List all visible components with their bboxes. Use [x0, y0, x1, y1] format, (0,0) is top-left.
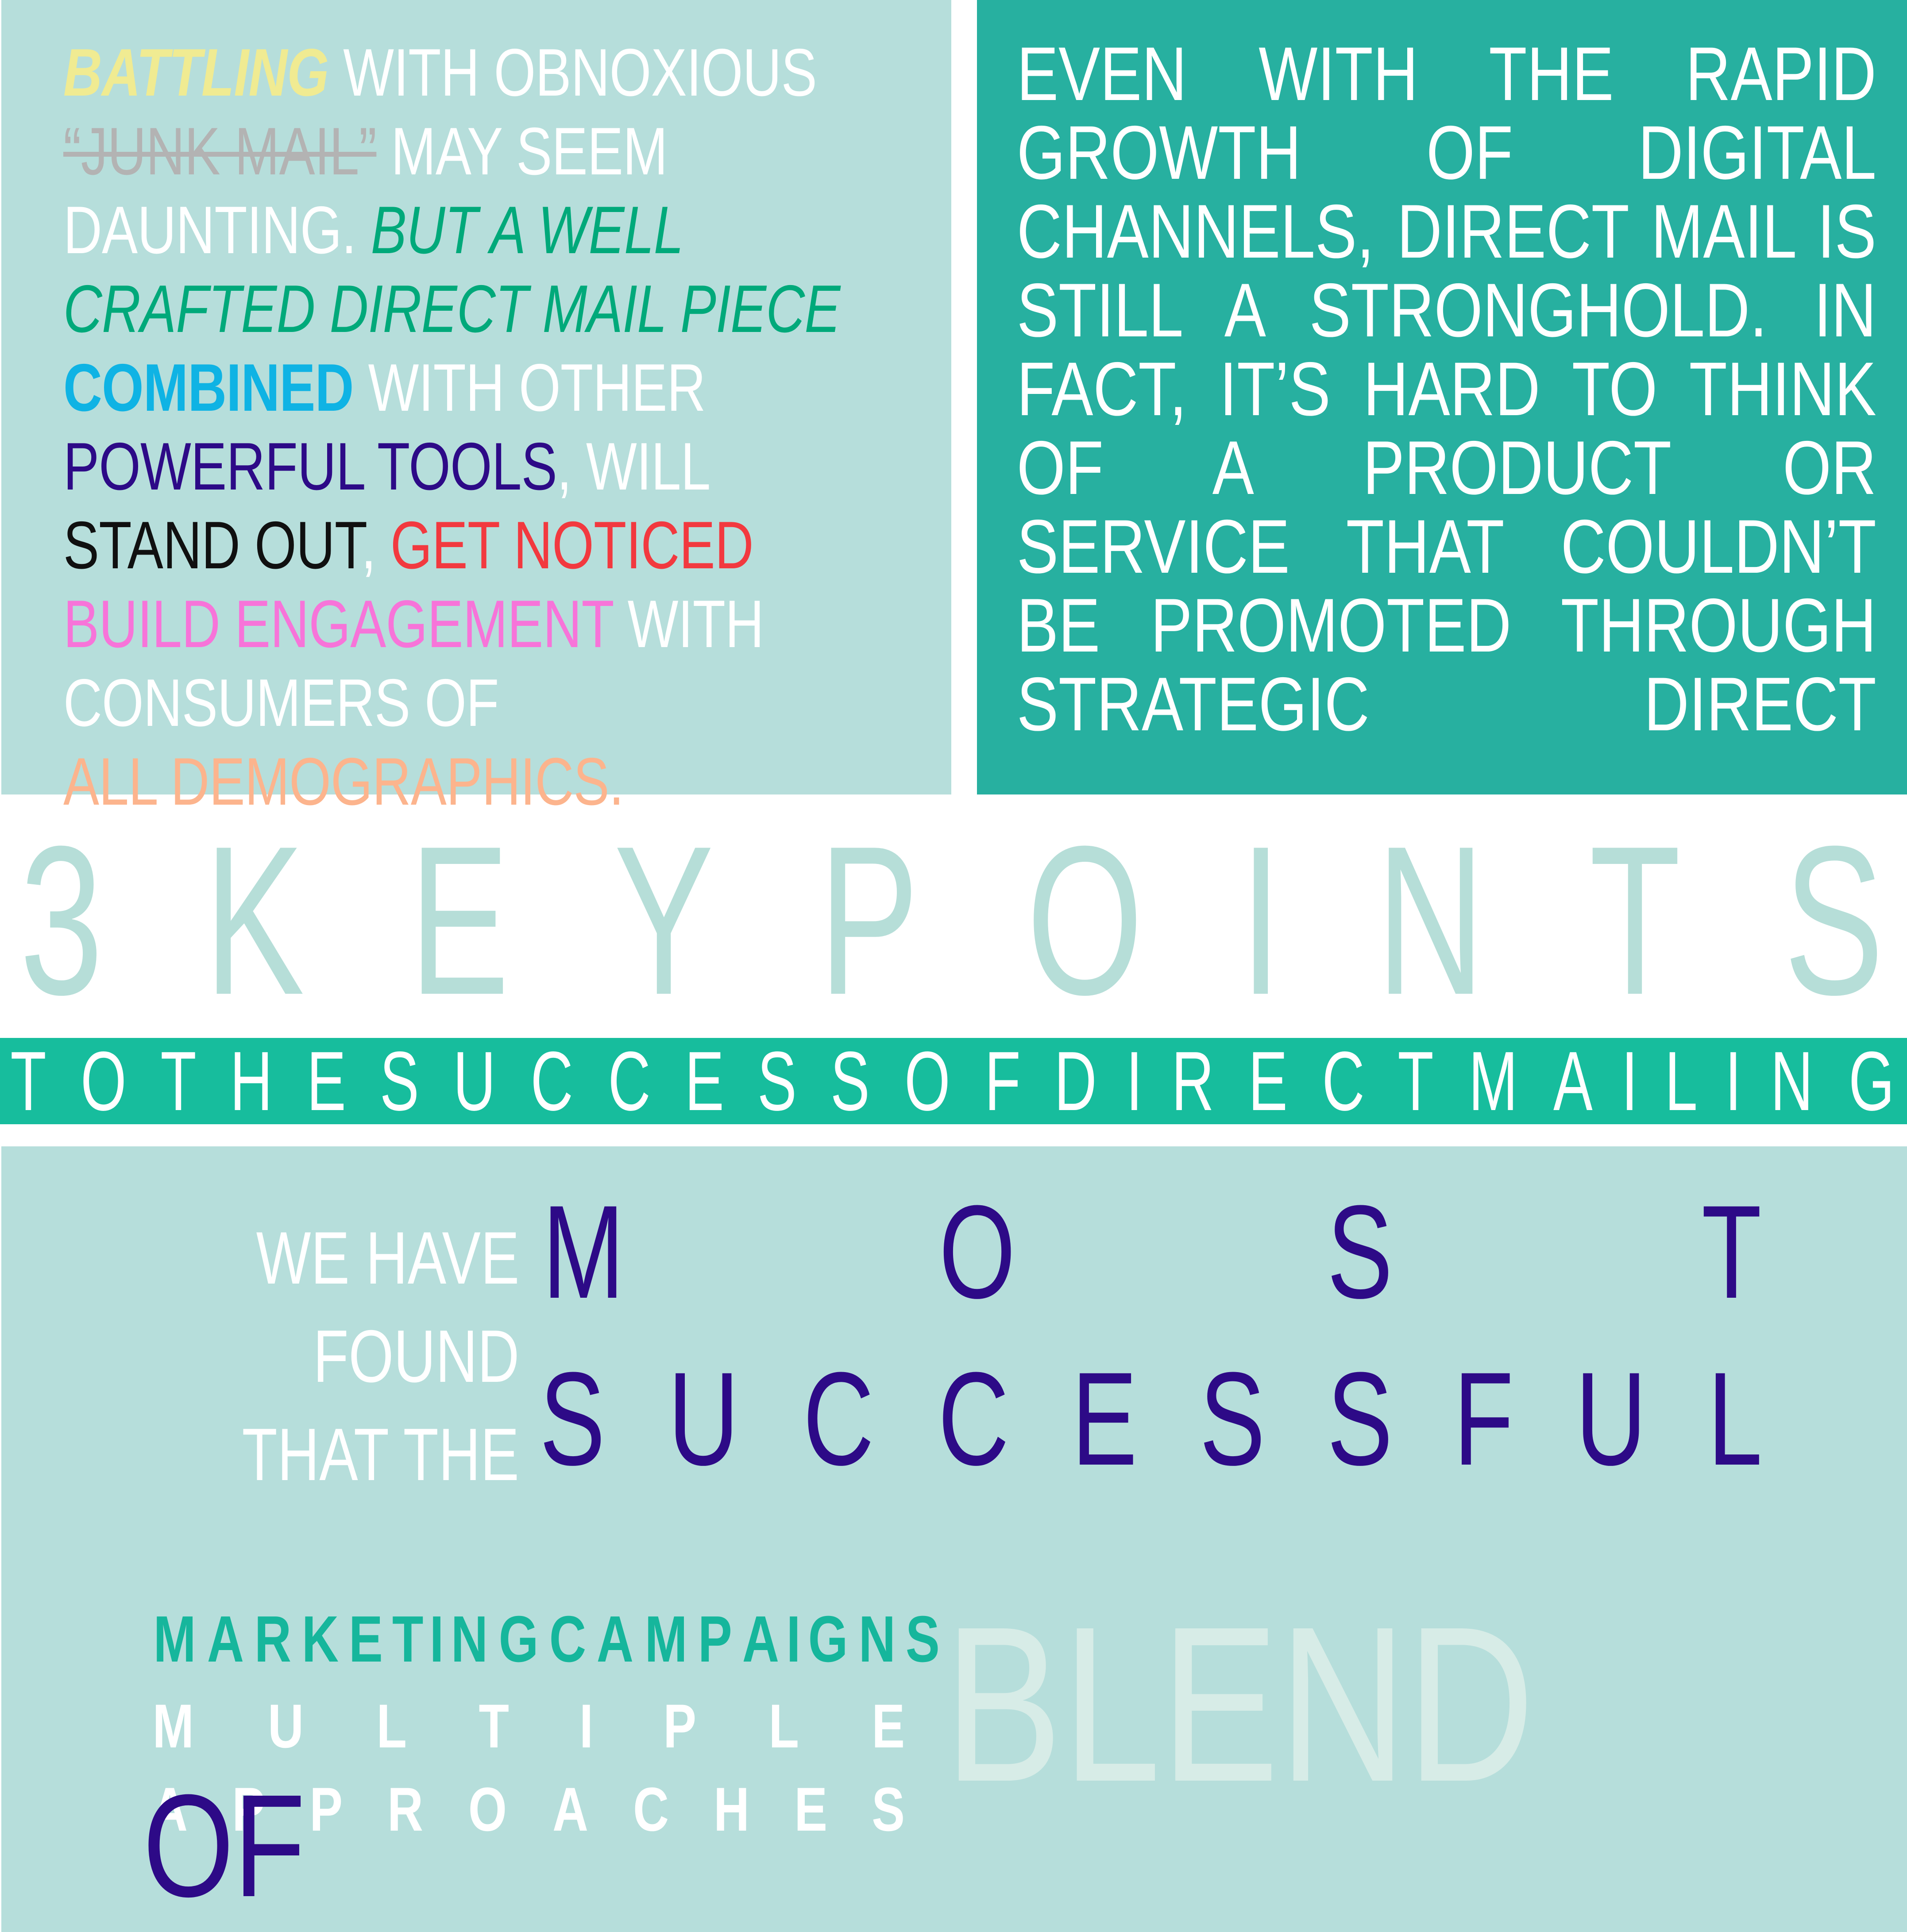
banner-char: T — [1398, 1039, 1434, 1123]
intro-text: CONSUMERS OF — [63, 665, 499, 740]
banner-char: I — [1621, 1039, 1638, 1123]
banner-char: E — [307, 1039, 346, 1123]
intro-line: CRAFTED DIRECT MAIL PIECE — [63, 270, 774, 348]
intro-emphasis-battling: BATTLING — [63, 35, 328, 110]
headline-char: K — [205, 814, 305, 1026]
banner-char: M — [1469, 1039, 1518, 1123]
headline-char: N — [1377, 814, 1485, 1026]
intro-line: “JUNK MAIL” MAY SEEM — [63, 112, 774, 191]
banner-char: L — [1665, 1039, 1698, 1123]
intro-line: CONSUMERS OF — [63, 663, 774, 742]
banner-char: O — [904, 1039, 950, 1123]
stronghold-copy-panel: EVEN WITH THE RAPID GROWTH OF DIGITAL CH… — [977, 0, 1907, 794]
campaigns-char: A — [742, 1607, 779, 1672]
intro-text: WITH OBNOXIOUS — [328, 35, 817, 110]
headline-char: 3 — [20, 814, 103, 1026]
intro-line: BUILD ENGAGEMENT WITH — [63, 585, 774, 663]
blend-word-marketing-campaigns: M A R K E T I N G C A M P A I G N S — [147, 1607, 909, 1672]
successful-char: U — [1575, 1352, 1646, 1485]
intro-text: WITH — [613, 586, 764, 662]
keypoints-headline: 3 K E Y P O I N T S — [0, 810, 1907, 1031]
campaigns-char: G — [499, 1607, 539, 1672]
banner-char: S — [830, 1039, 870, 1123]
banner-char: N — [1771, 1039, 1813, 1123]
banner-char: T — [10, 1039, 46, 1123]
banner-char: S — [380, 1039, 419, 1123]
intro-text: MAY SEEM — [376, 114, 667, 189]
intro-text: WITH OTHER — [354, 350, 706, 425]
most-char: M — [542, 1185, 624, 1318]
blend-word-successful: S U C C E S S F U L — [528, 1352, 1772, 1485]
blend-box-wrapper: DIRECT MAIL AND DIGITAL MARKETING — [1, 1777, 1907, 1910]
multiple-char: P — [664, 1695, 697, 1757]
campaigns-char: E — [349, 1607, 383, 1672]
banner-char: I — [1725, 1039, 1741, 1123]
banner-char: H — [230, 1039, 273, 1123]
campaigns-char: M — [154, 1607, 196, 1672]
banner-char: C — [1322, 1039, 1364, 1123]
campaigns-char: K — [302, 1607, 339, 1672]
most-char: S — [1327, 1185, 1393, 1318]
successful-char: C — [803, 1352, 874, 1485]
intro-line: BATTLING WITH OBNOXIOUS — [63, 33, 774, 112]
successful-char: C — [938, 1352, 1009, 1485]
campaigns-char: C — [549, 1607, 586, 1672]
stronghold-body-text: EVEN WITH THE RAPID GROWTH OF DIGITAL CH… — [1017, 35, 1876, 822]
multiple-char: E — [872, 1695, 905, 1757]
intro-emphasis-powerful-tools: POWERFUL TOOLS — [63, 429, 557, 504]
most-char: T — [1702, 1185, 1762, 1318]
banner-char: F — [984, 1039, 1020, 1123]
intro-text: , — [361, 508, 390, 583]
banner-char: T — [161, 1039, 197, 1123]
intro-text: , WILL — [557, 429, 710, 504]
campaigns-char: T — [392, 1607, 424, 1672]
intro-emphasis-crafted-piece: CRAFTED DIRECT MAIL PIECE — [63, 271, 840, 347]
intro-line: STAND OUT, GET NOTICED — [63, 506, 774, 585]
campaigns-char: A — [207, 1607, 244, 1672]
campaigns-char: R — [255, 1607, 291, 1672]
campaigns-char: M — [645, 1607, 687, 1672]
headline-char: T — [1590, 814, 1681, 1026]
blend-panel: BLEND WE HAVE FOUND THAT THE M O S T S U… — [1, 1146, 1907, 1932]
campaigns-char: I — [786, 1607, 800, 1672]
banner-char: G — [1849, 1039, 1894, 1123]
multiple-char: T — [479, 1695, 509, 1757]
banner-char: A — [1553, 1039, 1593, 1123]
campaigns-char: S — [906, 1607, 940, 1672]
banner-char: I — [1126, 1039, 1142, 1123]
headline-char: S — [1784, 814, 1884, 1026]
campaigns-char: N — [451, 1607, 488, 1672]
successful-char: S — [1327, 1352, 1393, 1485]
multiple-char: U — [268, 1695, 304, 1757]
multiple-char: I — [579, 1695, 593, 1757]
banner-char: E — [685, 1039, 724, 1123]
intro-emphasis-stand-out: STAND OUT — [63, 508, 361, 583]
headline-char: E — [409, 814, 510, 1026]
banner-char: O — [81, 1039, 126, 1123]
campaigns-char: I — [430, 1607, 444, 1672]
intro-emphasis-build-engagement: BUILD ENGAGEMENT — [63, 586, 613, 662]
successful-char: E — [1072, 1352, 1137, 1485]
multiple-char: L — [377, 1695, 407, 1757]
intro-emphasis-but-a-well: BUT A WELL — [371, 193, 683, 268]
intro-line: COMBINED WITH OTHER — [63, 348, 774, 427]
headline-char: Y — [614, 814, 714, 1026]
successful-char: S — [540, 1352, 605, 1485]
headline-char: O — [1027, 814, 1143, 1026]
multiple-char: M — [153, 1695, 194, 1757]
banner-char: R — [1172, 1039, 1214, 1123]
campaigns-char: G — [808, 1607, 848, 1672]
success-banner: T O T H E S U C C E S S O F D I R E C T … — [0, 1038, 1907, 1124]
intro-strikethrough-junk-mail: “JUNK MAIL” — [63, 114, 376, 189]
banner-char: C — [608, 1039, 651, 1123]
successful-char: L — [1708, 1352, 1762, 1485]
successful-char: F — [1454, 1352, 1514, 1485]
successful-char: S — [1200, 1352, 1265, 1485]
most-char: O — [939, 1185, 1015, 1318]
intro-emphasis-combined: COMBINED — [63, 350, 354, 425]
headline-char: P — [818, 814, 919, 1026]
campaigns-char: A — [597, 1607, 633, 1672]
blend-word-multiple: M U L T I P L E — [147, 1695, 909, 1757]
intro-line: POWERFUL TOOLS, WILL — [63, 427, 774, 506]
intro-copy-panel: BATTLING WITH OBNOXIOUS “JUNK MAIL” MAY … — [1, 0, 951, 794]
multiple-char: L — [769, 1695, 799, 1757]
banner-char: C — [531, 1039, 573, 1123]
blend-thin-line-we-have: WE HAVE — [256, 1221, 519, 1295]
campaigns-char: N — [859, 1607, 896, 1672]
blend-word-most: M O S T — [528, 1185, 1772, 1318]
intro-emphasis-get-noticed: GET NOTICED — [390, 508, 753, 583]
intro-emphasis-all-demographics: ALL DEMOGRAPHICS. — [63, 744, 624, 819]
banner-char: E — [1248, 1039, 1288, 1123]
intro-line: DAUNTING. BUT A WELL — [63, 191, 774, 270]
headline-char: I — [1240, 814, 1282, 1026]
blend-thin-line-found: FOUND — [313, 1319, 519, 1393]
banner-char: S — [757, 1039, 797, 1123]
intro-text: DAUNTING. — [63, 193, 371, 268]
campaigns-char: P — [698, 1607, 732, 1672]
blend-thin-line-that-the: THAT THE — [242, 1417, 519, 1492]
successful-char: U — [668, 1352, 739, 1485]
banner-char: U — [453, 1039, 496, 1123]
banner-char: D — [1054, 1039, 1096, 1123]
